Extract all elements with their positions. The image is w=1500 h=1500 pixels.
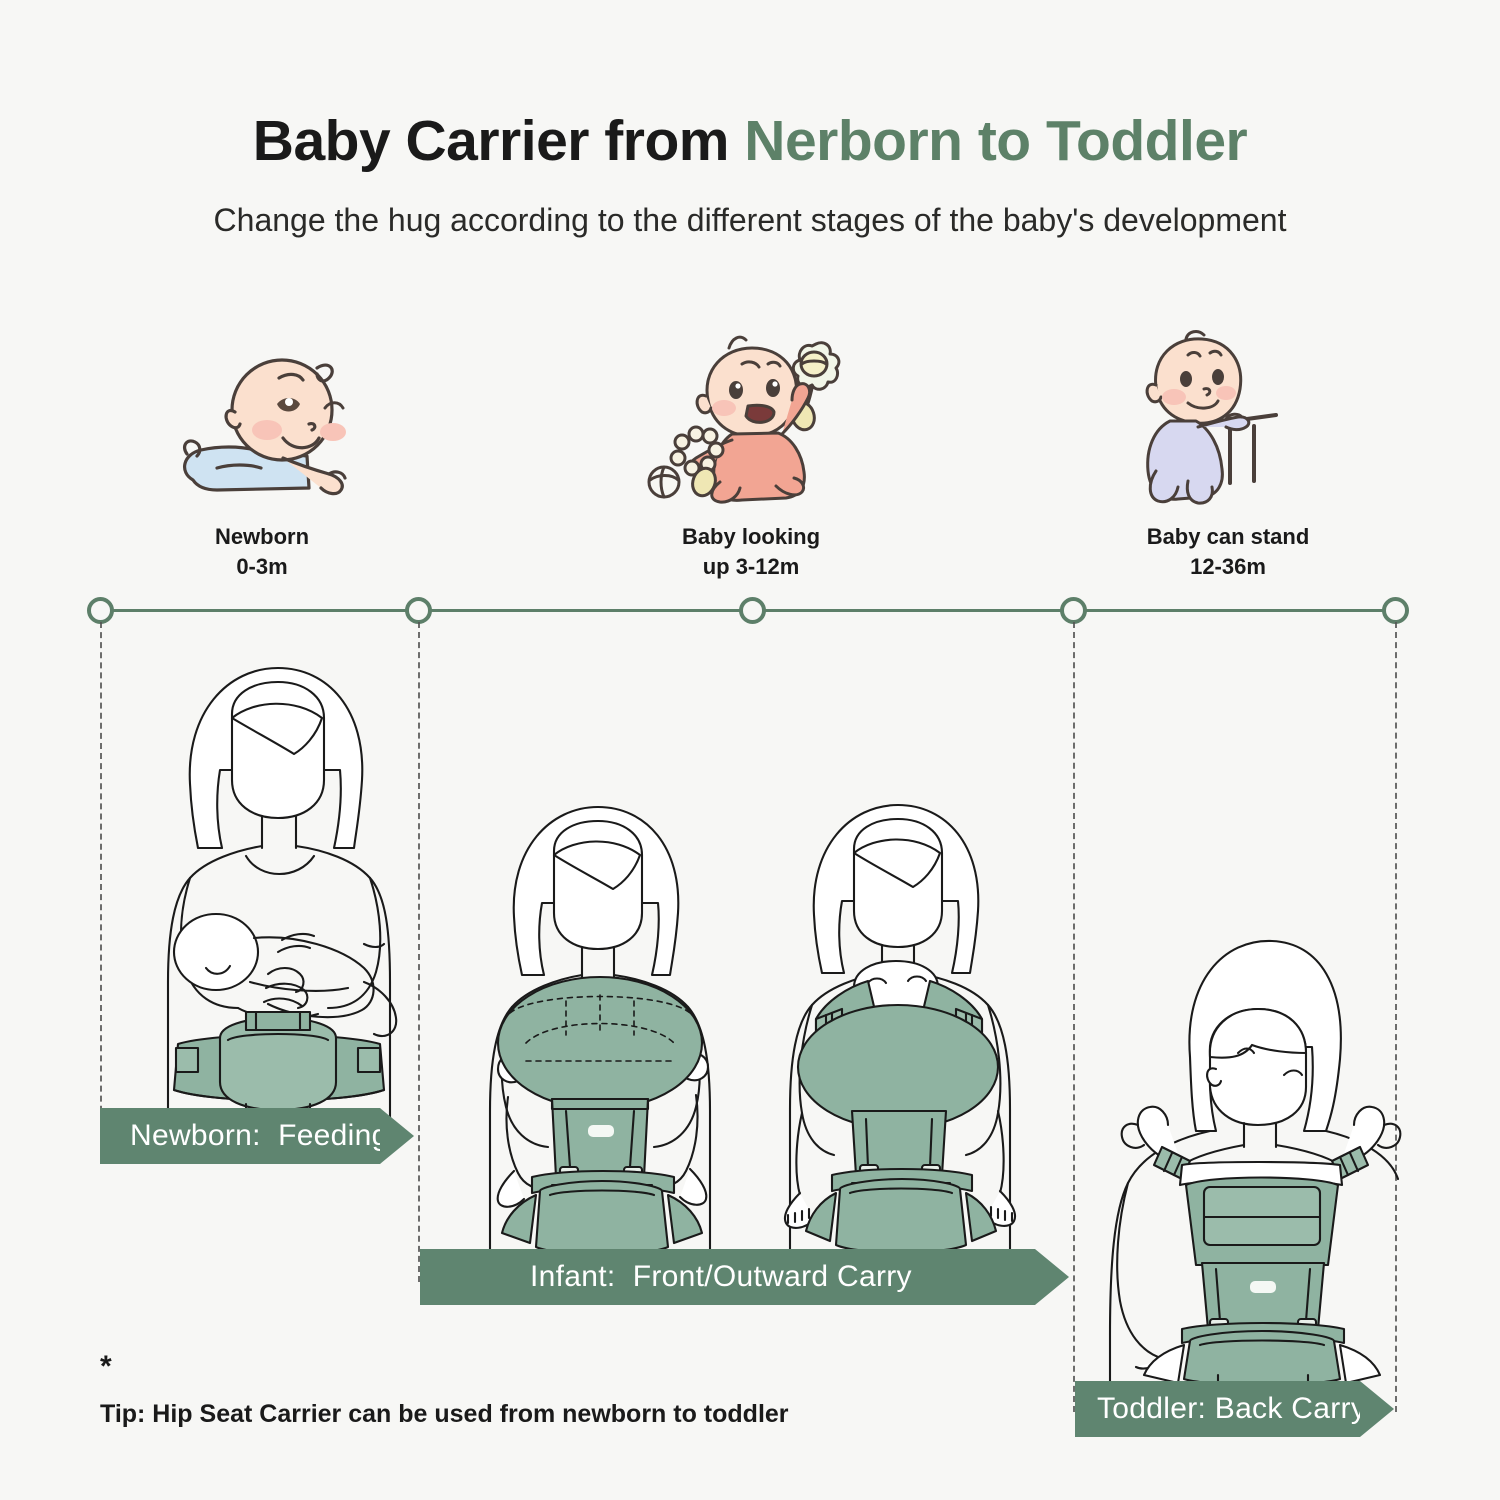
- newborn-lying-baby-icon: [97, 336, 427, 506]
- banner-newborn-feeding[interactable]: Newborn: Feeding: [100, 1108, 380, 1164]
- standing-baby-icon: [1063, 336, 1393, 506]
- stage-item-baby-can-stand: Baby can stand 12-36m: [1063, 336, 1393, 581]
- stage-label-newborn: Newborn 0-3m: [97, 522, 427, 581]
- banner-infant-carry[interactable]: Infant: Front/Outward Carry: [420, 1249, 1035, 1305]
- newborn-feeding-illustration: [128, 652, 428, 1122]
- column-divider-1: [100, 622, 102, 1142]
- toddler-back-carry-illustration: [1098, 935, 1398, 1385]
- stage-item-newborn: Newborn 0-3m: [97, 336, 427, 581]
- stage-label-baby-can-stand: Baby can stand 12-36m: [1063, 522, 1393, 581]
- page-subtitle: Change the hug according to the differen…: [0, 172, 1500, 243]
- header: Baby Carrier from Nerborn to Toddler Cha…: [0, 0, 1500, 243]
- tip-block: * Tip: Hip Seat Carrier can be used from…: [100, 1352, 860, 1429]
- timeline-dot-1[interactable]: [87, 597, 114, 624]
- timeline-dot-3[interactable]: [739, 597, 766, 624]
- sitting-baby-with-rattle-icon: [586, 336, 916, 506]
- tip-asterisk: *: [100, 1352, 860, 1382]
- infographic-page: Baby Carrier from Nerborn to Toddler Cha…: [0, 0, 1500, 1500]
- page-title-green: Nerborn to Toddler: [744, 109, 1247, 173]
- timeline-dot-4[interactable]: [1060, 597, 1087, 624]
- timeline-dot-5[interactable]: [1382, 597, 1409, 624]
- tip-text: Tip: Hip Seat Carrier can be used from n…: [100, 1400, 860, 1429]
- stage-row: Newborn 0-3m: [0, 336, 1500, 586]
- infant-outward-carry-illustration: [768, 795, 1053, 1260]
- stage-label-baby-looking-up: Baby looking up 3-12m: [586, 522, 916, 581]
- banner-newborn-label: Newborn: Feeding: [100, 1119, 389, 1153]
- banner-toddler-back-carry[interactable]: Toddler: Back Carry: [1075, 1381, 1360, 1437]
- timeline: [0, 590, 1500, 650]
- timeline-dot-2[interactable]: [405, 597, 432, 624]
- column-divider-3: [1073, 622, 1075, 1412]
- stage-item-baby-looking-up: Baby looking up 3-12m: [586, 336, 916, 581]
- page-title: Baby Carrier from Nerborn to Toddler: [0, 0, 1500, 172]
- page-title-dark: Baby Carrier from: [253, 109, 745, 173]
- banner-infant-label: Infant: Front/Outward Carry: [420, 1260, 912, 1294]
- infant-front-carry-illustration: [466, 795, 756, 1260]
- banner-toddler-label: Toddler: Back Carry: [1075, 1392, 1366, 1426]
